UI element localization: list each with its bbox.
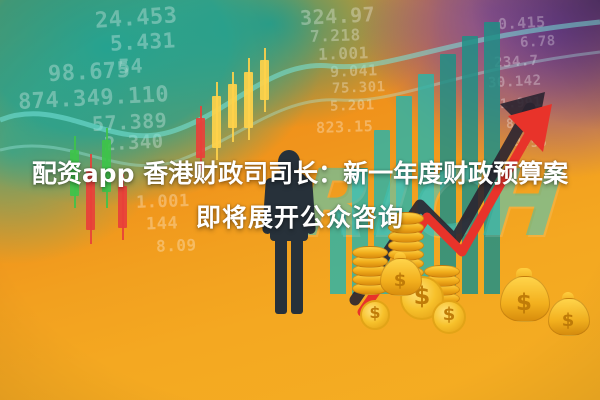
money-bag: $ bbox=[500, 268, 548, 322]
headline-line-1: 配资app 香港财政司司长：新一年度财政预算案 bbox=[0, 152, 600, 196]
money-bag-symbol: $ bbox=[380, 270, 420, 291]
money-bag: $ bbox=[380, 252, 420, 296]
coin bbox=[424, 265, 460, 278]
money-bag: $ bbox=[548, 292, 588, 336]
person-left-leg bbox=[275, 238, 287, 314]
promo-image: 24.453324.975.4317.218541.00198.6759.041… bbox=[0, 0, 600, 400]
person-right-leg bbox=[291, 238, 303, 314]
coin-face: $ bbox=[360, 300, 390, 330]
headline: 配资app 香港财政司司长：新一年度财政预算案 即将展开公众咨询 bbox=[0, 152, 600, 240]
coin-face: $ bbox=[432, 300, 466, 334]
money-bag-symbol: $ bbox=[500, 290, 548, 316]
headline-line-2: 即将展开公众咨询 bbox=[0, 196, 600, 240]
money-bag-symbol: $ bbox=[548, 310, 588, 331]
